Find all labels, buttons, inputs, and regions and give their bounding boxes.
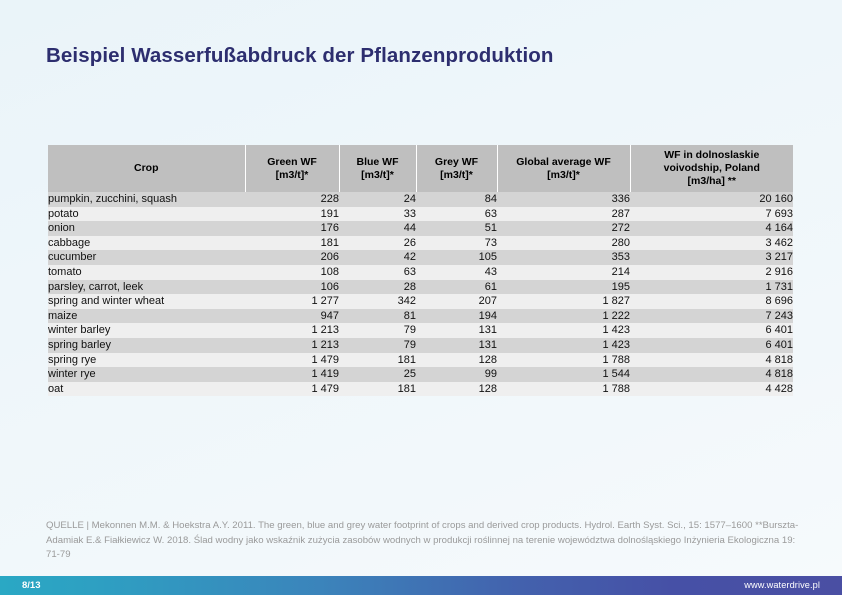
- cell-global-average-wf: 195: [497, 280, 630, 295]
- cell-poland-wf: 1 731: [630, 280, 793, 295]
- cell-green-wf: 1 479: [245, 353, 339, 368]
- cell-blue-wf: 44: [339, 221, 416, 236]
- cell-poland-wf: 4 818: [630, 353, 793, 368]
- table-row: cucumber206421053533 217: [48, 250, 793, 265]
- cell-green-wf: 181: [245, 236, 339, 251]
- table-row: spring and winter wheat1 2773422071 8278…: [48, 294, 793, 309]
- cell-global-average-wf: 1 423: [497, 323, 630, 338]
- cell-global-average-wf: 1 423: [497, 338, 630, 353]
- cell-blue-wf: 25: [339, 367, 416, 382]
- cell-poland-wf: 7 243: [630, 309, 793, 324]
- cell-grey-wf: 131: [416, 338, 497, 353]
- cell-grey-wf: 43: [416, 265, 497, 280]
- column-header-crop-line1: Crop: [134, 162, 159, 174]
- cell-green-wf: 1 213: [245, 323, 339, 338]
- column-header-crop: Crop: [48, 145, 245, 192]
- cell-crop: onion: [48, 221, 245, 236]
- cell-global-average-wf: 1 544: [497, 367, 630, 382]
- table-body: pumpkin, zucchini, squash228248433620 16…: [48, 192, 793, 396]
- cell-poland-wf: 3 462: [630, 236, 793, 251]
- table-row: winter barley1 213791311 4236 401: [48, 323, 793, 338]
- cell-green-wf: 176: [245, 221, 339, 236]
- cell-global-average-wf: 1 788: [497, 382, 630, 397]
- cell-crop: cabbage: [48, 236, 245, 251]
- cell-blue-wf: 26: [339, 236, 416, 251]
- cell-crop: parsley, carrot, leek: [48, 280, 245, 295]
- cell-global-average-wf: 1 222: [497, 309, 630, 324]
- cell-crop: cucumber: [48, 250, 245, 265]
- website-url[interactable]: www.waterdrive.pl: [744, 576, 820, 595]
- column-header-green-wf-line2: [m3/t]*: [276, 169, 309, 181]
- column-header-blue-wf: Blue WF [m3/t]*: [339, 145, 416, 192]
- column-header-poland-wf-line3: [m3/ha] **: [688, 175, 736, 187]
- cell-green-wf: 1 213: [245, 338, 339, 353]
- water-footprint-table: Crop Green WF [m3/t]* Blue WF [m3/t]* Gr…: [48, 145, 793, 396]
- cell-poland-wf: 7 693: [630, 207, 793, 222]
- cell-poland-wf: 4 428: [630, 382, 793, 397]
- cell-green-wf: 106: [245, 280, 339, 295]
- cell-blue-wf: 342: [339, 294, 416, 309]
- column-header-blue-wf-line1: Blue WF: [357, 156, 399, 168]
- cell-global-average-wf: 353: [497, 250, 630, 265]
- cell-grey-wf: 63: [416, 207, 497, 222]
- table-header-row: Crop Green WF [m3/t]* Blue WF [m3/t]* Gr…: [48, 145, 793, 192]
- cell-grey-wf: 207: [416, 294, 497, 309]
- cell-global-average-wf: 336: [497, 192, 630, 207]
- page-number: 8/13: [22, 576, 41, 595]
- cell-blue-wf: 79: [339, 323, 416, 338]
- cell-grey-wf: 128: [416, 382, 497, 397]
- cell-poland-wf: 2 916: [630, 265, 793, 280]
- column-header-poland-wf-line2: voivodship, Poland: [664, 162, 760, 174]
- cell-blue-wf: 24: [339, 192, 416, 207]
- table-row: cabbage18126732803 462: [48, 236, 793, 251]
- cell-blue-wf: 81: [339, 309, 416, 324]
- table-row: onion17644512724 164: [48, 221, 793, 236]
- cell-blue-wf: 33: [339, 207, 416, 222]
- cell-grey-wf: 105: [416, 250, 497, 265]
- column-header-green-wf-line1: Green WF: [267, 156, 317, 168]
- cell-poland-wf: 20 160: [630, 192, 793, 207]
- cell-green-wf: 1 479: [245, 382, 339, 397]
- cell-blue-wf: 42: [339, 250, 416, 265]
- cell-green-wf: 1 419: [245, 367, 339, 382]
- cell-green-wf: 206: [245, 250, 339, 265]
- column-header-blue-wf-line2: [m3/t]*: [361, 169, 394, 181]
- column-header-global-average-wf-line1: Global average WF: [516, 156, 611, 168]
- cell-green-wf: 1 277: [245, 294, 339, 309]
- cell-crop: potato: [48, 207, 245, 222]
- cell-crop: winter barley: [48, 323, 245, 338]
- column-header-grey-wf-line2: [m3/t]*: [440, 169, 473, 181]
- page-title: Beispiel Wasserfußabdruck der Pflanzenpr…: [46, 44, 554, 68]
- column-header-green-wf: Green WF [m3/t]*: [245, 145, 339, 192]
- cell-green-wf: 191: [245, 207, 339, 222]
- cell-poland-wf: 3 217: [630, 250, 793, 265]
- cell-crop: pumpkin, zucchini, squash: [48, 192, 245, 207]
- cell-crop: spring barley: [48, 338, 245, 353]
- cell-green-wf: 108: [245, 265, 339, 280]
- cell-global-average-wf: 287: [497, 207, 630, 222]
- table-row: parsley, carrot, leek10628611951 731: [48, 280, 793, 295]
- footer-bar: 8/13 www.waterdrive.pl: [0, 576, 842, 595]
- table-header: Crop Green WF [m3/t]* Blue WF [m3/t]* Gr…: [48, 145, 793, 192]
- table-row: spring barley1 213791311 4236 401: [48, 338, 793, 353]
- cell-global-average-wf: 272: [497, 221, 630, 236]
- cell-green-wf: 228: [245, 192, 339, 207]
- cell-crop: tomato: [48, 265, 245, 280]
- cell-grey-wf: 73: [416, 236, 497, 251]
- cell-blue-wf: 28: [339, 280, 416, 295]
- cell-blue-wf: 79: [339, 338, 416, 353]
- column-header-global-average-wf-line2: [m3/t]*: [547, 169, 580, 181]
- cell-global-average-wf: 1 827: [497, 294, 630, 309]
- table-row: pumpkin, zucchini, squash228248433620 16…: [48, 192, 793, 207]
- cell-grey-wf: 194: [416, 309, 497, 324]
- cell-crop: spring rye: [48, 353, 245, 368]
- cell-poland-wf: 8 696: [630, 294, 793, 309]
- column-header-poland-wf-line1: WF in dolnoslaskie: [664, 149, 759, 161]
- cell-poland-wf: 4 164: [630, 221, 793, 236]
- cell-blue-wf: 63: [339, 265, 416, 280]
- column-header-poland-wf: WF in dolnoslaskie voivodship, Poland [m…: [630, 145, 793, 192]
- cell-grey-wf: 51: [416, 221, 497, 236]
- table-row: oat1 4791811281 7884 428: [48, 382, 793, 397]
- cell-global-average-wf: 214: [497, 265, 630, 280]
- cell-poland-wf: 6 401: [630, 323, 793, 338]
- table-row: winter rye1 41925991 5444 818: [48, 367, 793, 382]
- cell-global-average-wf: 280: [497, 236, 630, 251]
- cell-crop: winter rye: [48, 367, 245, 382]
- cell-poland-wf: 4 818: [630, 367, 793, 382]
- slide: Beispiel Wasserfußabdruck der Pflanzenpr…: [0, 0, 842, 595]
- column-header-grey-wf: Grey WF [m3/t]*: [416, 145, 497, 192]
- table-row: spring rye1 4791811281 7884 818: [48, 353, 793, 368]
- cell-blue-wf: 181: [339, 353, 416, 368]
- cell-grey-wf: 99: [416, 367, 497, 382]
- table-row: tomato10863432142 916: [48, 265, 793, 280]
- cell-green-wf: 947: [245, 309, 339, 324]
- cell-blue-wf: 181: [339, 382, 416, 397]
- source-citation: QUELLE | Mekonnen M.M. & Hoekstra A.Y. 2…: [46, 519, 808, 563]
- cell-grey-wf: 84: [416, 192, 497, 207]
- cell-poland-wf: 6 401: [630, 338, 793, 353]
- cell-crop: maize: [48, 309, 245, 324]
- table-row: maize947811941 2227 243: [48, 309, 793, 324]
- cell-crop: oat: [48, 382, 245, 397]
- water-footprint-table-container: Crop Green WF [m3/t]* Blue WF [m3/t]* Gr…: [48, 145, 793, 396]
- cell-grey-wf: 131: [416, 323, 497, 338]
- cell-grey-wf: 128: [416, 353, 497, 368]
- table-row: potato19133632877 693: [48, 207, 793, 222]
- column-header-grey-wf-line1: Grey WF: [435, 156, 478, 168]
- cell-crop: spring and winter wheat: [48, 294, 245, 309]
- cell-global-average-wf: 1 788: [497, 353, 630, 368]
- cell-grey-wf: 61: [416, 280, 497, 295]
- column-header-global-average-wf: Global average WF [m3/t]*: [497, 145, 630, 192]
